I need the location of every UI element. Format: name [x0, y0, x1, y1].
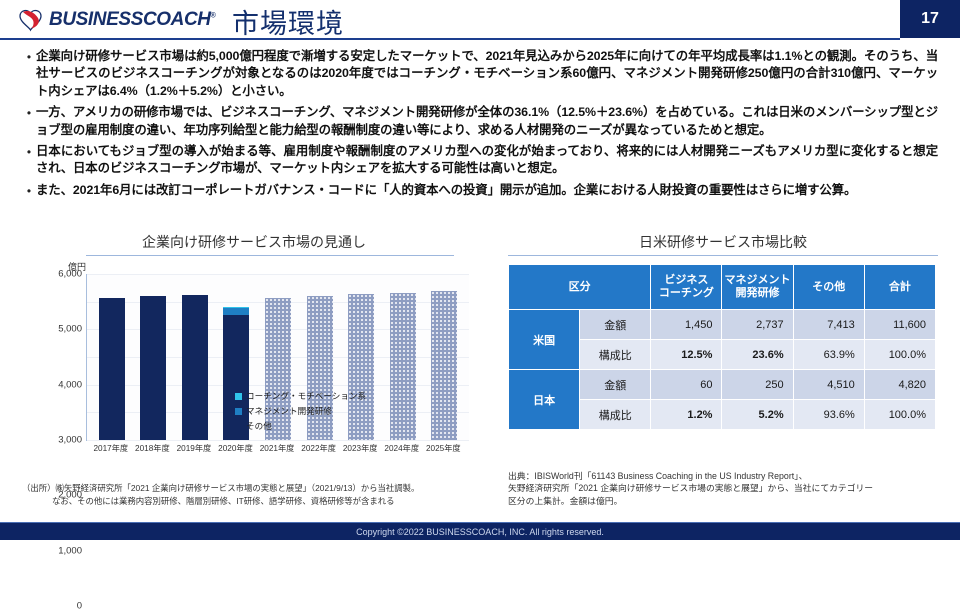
logo-text-business: BUSINESS: [49, 9, 143, 30]
col-header-kubun: 区分: [509, 265, 651, 310]
chart-gridline: 0: [87, 440, 469, 441]
table-row: 米国金額1,4502,7377,41311,600: [509, 310, 936, 340]
logo-text-coach: COACH: [143, 9, 211, 30]
legend-label: コーチング・モチベーション系: [246, 390, 366, 402]
table-cell-value: 1,450: [651, 310, 722, 340]
table-title-divider: [508, 255, 938, 256]
slide-root: BUSINESSCOACH® 市場環境 17 • 企業向け研修サービス市場は約5…: [0, 0, 960, 540]
col-header-business-coaching: ビジネス コーチング: [651, 265, 722, 310]
source-line: なお、その他には業務内容別研修、階層別研修、IT研修、語学研修、資格研修等が含ま…: [22, 495, 492, 508]
table-cell-kind: 金額: [580, 370, 651, 400]
table-cell-value: 11,600: [864, 310, 935, 340]
table-cell-value: 100.0%: [864, 400, 935, 430]
legend-swatch-management: [235, 408, 242, 415]
logo-registered-mark: ®: [211, 13, 216, 20]
chart-y-tick-label: 1,000: [58, 545, 82, 556]
col-header-line2: コーチング: [659, 287, 714, 299]
bullet-list: • 企業向け研修サービス市場は約5,000億円程度で漸増する安定したマーケットで…: [22, 48, 938, 203]
chart-bar: [431, 274, 457, 440]
chart-bar-segment-other: [99, 298, 125, 440]
bullet-text: 日本においてもジョブ型の導入が始まる等、雇用制度や報酬制度のアメリカ型への変化が…: [36, 143, 938, 178]
chart-title-divider: [86, 255, 454, 256]
legend-label: マネジメント開発研修: [246, 405, 332, 417]
company-logo: BUSINESSCOACH®: [18, 7, 215, 33]
table-header-row: 区分 ビジネス コーチング マネジメント 開発研修 その他 合計: [509, 265, 936, 310]
legend-item: その他: [235, 420, 366, 432]
table-body: 米国金額1,4502,7377,41311,600構成比12.5%23.6%63…: [509, 310, 936, 430]
bullet-text: 企業向け研修サービス市場は約5,000億円程度で漸増する安定したマーケットで、2…: [36, 48, 938, 100]
table-title: 日米研修サービス市場比較: [508, 232, 938, 252]
chart-bar: [99, 274, 125, 440]
table-cell-kind: 構成比: [580, 340, 651, 370]
legend-item: マネジメント開発研修: [235, 405, 366, 417]
table-cell-value: 4,510: [793, 370, 864, 400]
table-cell-value: 100.0%: [864, 340, 935, 370]
chart-bar-segment-other: [431, 291, 457, 440]
bullet-dot-icon: •: [22, 143, 36, 160]
market-forecast-chart: 企業向け研修サービス市場の見通し 億円 01,0002,0003,0004,00…: [28, 232, 480, 472]
table-cell-value: 23.6%: [722, 340, 793, 370]
heart-swoosh-icon: [18, 8, 44, 32]
chart-y-tick-label: 5,000: [58, 324, 82, 335]
bullet-dot-icon: •: [22, 182, 36, 199]
chart-bar-segment-other: [182, 295, 208, 440]
table-cell-value: 7,413: [793, 310, 864, 340]
chart-y-tick-label: 6,000: [58, 269, 82, 280]
chart-bar-segment-mgmt: [223, 308, 249, 315]
table-cell-value: 5.2%: [722, 400, 793, 430]
chart-bar: [140, 274, 166, 440]
col-header-line1: マネジメント: [725, 274, 791, 286]
table-cell-value: 93.6%: [793, 400, 864, 430]
table-row: 日本金額602504,5104,820: [509, 370, 936, 400]
col-header-other: その他: [793, 265, 864, 310]
bullet-dot-icon: •: [22, 104, 36, 121]
chart-bar-segment-other: [140, 296, 166, 440]
header-divider: [0, 38, 900, 40]
legend-swatch-coaching: [235, 393, 242, 400]
page-title: 市場環境: [232, 2, 344, 41]
table-cell-value: 63.9%: [793, 340, 864, 370]
chart-x-tick-label: 2019年度: [173, 442, 215, 454]
chart-x-tick-label: 2017年度: [90, 442, 132, 454]
jp-us-comparison-table: 区分 ビジネス コーチング マネジメント 開発研修 その他 合計 米国金額1,4…: [508, 264, 936, 430]
bullet-text: また、2021年6月には改訂コーポレートガバナンス・コードに「人的資本への投資」…: [36, 182, 938, 199]
legend-label: その他: [246, 420, 272, 432]
chart-x-tick-label: 2025年度: [423, 442, 465, 454]
chart-x-tick-label: 2022年度: [298, 442, 340, 454]
bullet-text: 一方、アメリカの研修市場では、ビジネスコーチング、マネジメント開発研修が全体の3…: [36, 104, 938, 139]
page-number-badge: 17: [900, 0, 960, 38]
table-source-note: 出典：IBISWorld刊「61143 Business Coaching in…: [508, 470, 948, 507]
comparison-table-panel: 日米研修サービス市場比較 区分 ビジネス コーチング マネジメント 開発研修 そ…: [508, 232, 938, 430]
col-header-management-training: マネジメント 開発研修: [722, 265, 793, 310]
source-line: （出所）㈱矢野経済研究所「2021 企業向け研修サービス市場の実態と展望」（20…: [22, 482, 492, 495]
chart-legend: コーチング・モチベーション系 マネジメント開発研修 その他: [235, 390, 366, 435]
bullet-item: • 一方、アメリカの研修市場では、ビジネスコーチング、マネジメント開発研修が全体…: [22, 104, 938, 139]
table-header: 区分 ビジネス コーチング マネジメント 開発研修 その他 合計: [509, 265, 936, 310]
bullet-item: • 日本においてもジョブ型の導入が始まる等、雇用制度や報酬制度のアメリカ型への変…: [22, 143, 938, 178]
table-cell-value: 1.2%: [651, 400, 722, 430]
chart-x-tick-label: 2024年度: [381, 442, 423, 454]
bullet-item: • また、2021年6月には改訂コーポレートガバナンス・コードに「人的資本への投…: [22, 182, 938, 199]
chart-y-tick-label: 4,000: [58, 379, 82, 390]
slide-footer: Copyright ©2022 BUSINESSCOACH, INC. All …: [0, 522, 960, 540]
chart-bar: [182, 274, 208, 440]
table-row-header-us: 米国: [509, 310, 580, 370]
chart-bar-segment-other: [390, 293, 416, 440]
table-row-header-japan: 日本: [509, 370, 580, 430]
col-header-line1: ビジネス: [664, 274, 708, 286]
source-line: 出典：IBISWorld刊「61143 Business Coaching in…: [508, 470, 948, 482]
chart-x-tick-label: 2018年度: [132, 442, 174, 454]
chart-x-tick-label: 2021年度: [256, 442, 298, 454]
chart-x-tick-label: 2023年度: [339, 442, 381, 454]
source-line: 矢野経済研究所「2021 企業向け研修サービス市場の実態と展望」から、当社にてカ…: [508, 482, 948, 494]
chart-bar: [390, 274, 416, 440]
chart-y-tick-label: 3,000: [58, 435, 82, 446]
chart-x-axis-labels: 2017年度2018年度2019年度2020年度2021年度2022年度2023…: [86, 442, 468, 454]
table-cell-kind: 金額: [580, 310, 651, 340]
slide-header: BUSINESSCOACH® 市場環境 17: [0, 0, 960, 40]
bullet-dot-icon: •: [22, 48, 36, 65]
chart-source-note: （出所）㈱矢野経済研究所「2021 企業向け研修サービス市場の実態と展望」（20…: [22, 482, 492, 507]
table-cell-kind: 構成比: [580, 400, 651, 430]
logo-wordmark: BUSINESSCOACH®: [49, 9, 215, 31]
bullet-item: • 企業向け研修サービス市場は約5,000億円程度で漸増する安定したマーケットで…: [22, 48, 938, 100]
chart-x-tick-label: 2020年度: [215, 442, 257, 454]
table-cell-value: 60: [651, 370, 722, 400]
chart-title: 企業向け研修サービス市場の見通し: [28, 232, 480, 252]
source-line: 区分の上集計。金額は億円。: [508, 495, 948, 507]
legend-swatch-other: [235, 423, 242, 430]
table-cell-value: 2,737: [722, 310, 793, 340]
table-cell-value: 12.5%: [651, 340, 722, 370]
chart-plot-area: 01,0002,0003,0004,0005,0006,000 コーチング・モチ…: [86, 274, 469, 441]
table-cell-value: 4,820: [864, 370, 935, 400]
chart-y-tick-label: 0: [77, 601, 82, 612]
col-header-total: 合計: [864, 265, 935, 310]
col-header-line2: 開発研修: [736, 287, 780, 299]
legend-item: コーチング・モチベーション系: [235, 390, 366, 402]
table-cell-value: 250: [722, 370, 793, 400]
